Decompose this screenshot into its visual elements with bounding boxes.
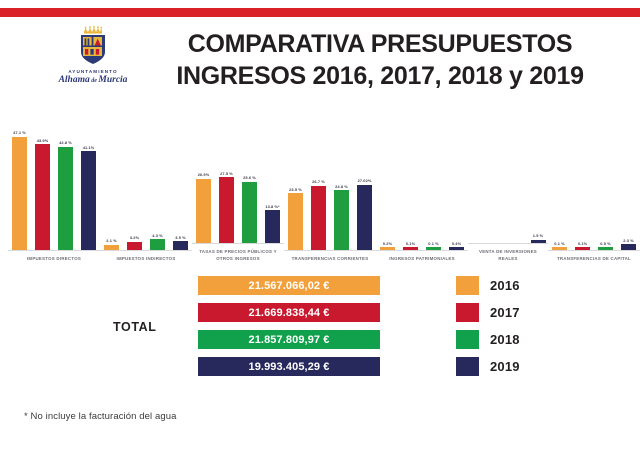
totals-bars: 21.567.066,02 €21.669.838,44 €21.857.809…	[198, 276, 380, 384]
total-label: TOTAL	[113, 320, 157, 334]
chart-bar[interactable]	[173, 241, 188, 249]
legend-row: 2017	[456, 303, 576, 322]
chart-group-bars: 26.9%27.5 %25.6 %13.8 %*	[192, 123, 284, 243]
chart-bar-slot: 41.1%	[77, 130, 100, 250]
legend-year-label: 2017	[490, 305, 520, 320]
chart-axis-line	[548, 250, 640, 251]
bar-value-label: 0.1 %	[554, 241, 564, 246]
top-red-stripe	[0, 8, 640, 17]
chart-group: 0.2%0.1%0.1 %0.4%INGRESOS PATRIMONIALES	[376, 112, 468, 262]
total-amount: 21.857.809,97 €	[248, 334, 329, 346]
chart-bar[interactable]	[127, 242, 142, 250]
total-row: 19.993.405,29 €	[198, 357, 380, 376]
chart-bar-slot: 0.2%	[376, 130, 399, 250]
logo-subtitle-ayuntamiento: AYUNTAMIENTO	[47, 69, 139, 74]
bar-value-label: 0.5 %	[600, 241, 610, 246]
chart-group: 0.1 %0.1%0.5 %2.3 %TRANSFERENCIAS DE CAP…	[548, 112, 640, 262]
bar-value-label: 13.8 %*	[265, 204, 279, 209]
chart-bar[interactable]	[426, 247, 441, 250]
chart-bar[interactable]	[35, 144, 50, 249]
chart-bar[interactable]	[598, 247, 613, 250]
chart-bar[interactable]	[12, 137, 27, 250]
total-row: 21.567.066,02 €	[198, 276, 380, 295]
total-amount: 21.567.066,02 €	[248, 280, 329, 292]
chart-axis-line	[468, 243, 548, 244]
chart-bar-slot: 1.5 %	[528, 123, 548, 243]
chart-bar-slot: 0.4%	[445, 130, 468, 250]
header: AYUNTAMIENTO Alhama de Murcia COMPARATIV…	[0, 22, 640, 102]
chart-bar-slot: 3.5 %	[169, 130, 192, 250]
chart-bar[interactable]	[334, 190, 349, 250]
chart-group-bars: 2.1 %3.2%4.3 %3.5 %	[100, 130, 192, 250]
chart-axis-line	[100, 250, 192, 251]
bar-value-label: 42.8 %	[59, 140, 72, 145]
logo-city-name: Alhama de Murcia	[47, 75, 139, 85]
chart-category-label: TRANSFERENCIAS CORRIENTES	[284, 256, 376, 262]
chart-bar[interactable]	[575, 247, 590, 250]
chart-bar[interactable]	[58, 147, 73, 250]
bar-value-label: 4.3 %	[152, 233, 162, 238]
bar-value-label: 2.1 %	[106, 238, 116, 243]
chart-group-bars: 47.1 %43.9%42.8 %41.1%	[8, 130, 100, 250]
chart-axis-line	[8, 250, 100, 251]
chart-bar-slot: 0.1%	[571, 130, 594, 250]
chart-category-label: TRANSFERENCIAS DE CAPITAL	[548, 256, 640, 262]
bar-chart: 47.1 %43.9%42.8 %41.1%IMPUESTOS DIRECTOS…	[8, 112, 636, 262]
logo-region: Murcia	[98, 75, 127, 85]
chart-bar[interactable]	[403, 247, 418, 250]
bar-value-label: 26.7 %	[312, 179, 325, 184]
chart-bar-slot: 4.3 %	[146, 130, 169, 250]
chart-bar-slot	[508, 123, 528, 243]
coat-of-arms-icon	[76, 26, 110, 66]
chart-category-label: INGRESOS PATRIMONIALES	[376, 256, 468, 262]
bar-value-label: 0.1%	[406, 241, 415, 246]
chart-bar[interactable]	[104, 245, 119, 250]
totals-section: TOTAL 21.567.066,02 €21.669.838,44 €21.8…	[0, 276, 640, 384]
title-line-2: INGRESOS 2016, 2017, 2018 y 2019	[145, 60, 615, 92]
chart-category-label: IMPUESTOS INDIRECTOS	[100, 256, 192, 262]
chart-bar-slot: 3.2%	[123, 130, 146, 250]
chart-group-container: 47.1 %43.9%42.8 %41.1%IMPUESTOS DIRECTOS…	[8, 112, 636, 262]
chart-bar-slot: 2.1 %	[100, 130, 123, 250]
chart-legend: 2016201720182019	[456, 276, 576, 384]
chart-bar-slot: 27.02%	[353, 130, 376, 250]
logo-city: Alhama	[59, 75, 90, 85]
legend-color-swatch	[456, 303, 479, 322]
footnote: * No incluye la facturación del agua	[24, 411, 177, 422]
chart-bar-slot: 42.8 %	[54, 130, 77, 250]
page-title: COMPARATIVA PRESUPUESTOS INGRESOS 2016, …	[145, 28, 615, 92]
legend-year-label: 2016	[490, 278, 520, 293]
chart-bar-slot: 26.9%	[192, 123, 215, 243]
chart-bar[interactable]	[311, 186, 326, 250]
total-row: 21.857.809,97 €	[198, 330, 380, 349]
chart-bar-slot: 23.5 %	[284, 130, 307, 250]
chart-bar-slot: 26.7 %	[307, 130, 330, 250]
chart-category-label: VENTA DE INVERSIONES REALES	[468, 249, 548, 262]
chart-bar[interactable]	[357, 185, 372, 250]
bar-value-label: 3.2%	[130, 235, 139, 240]
bar-value-label: 43.9%	[37, 138, 49, 143]
municipal-logo: AYUNTAMIENTO Alhama de Murcia	[47, 26, 139, 85]
chart-bar[interactable]	[380, 247, 395, 250]
chart-bar-slot: 27.5 %	[215, 123, 238, 243]
chart-axis-line	[376, 250, 468, 251]
bar-value-label: 1.5 %	[533, 233, 543, 238]
chart-bar[interactable]	[196, 179, 211, 244]
chart-bar[interactable]	[81, 151, 96, 250]
bar-value-label: 0.1%	[578, 241, 587, 246]
chart-bar[interactable]	[552, 247, 567, 250]
chart-bar-slot: 43.9%	[31, 130, 54, 250]
chart-bar-slot: 0.5 %	[594, 130, 617, 250]
bar-value-label: 26.9%	[198, 172, 210, 177]
chart-bar-slot: 0.1 %	[422, 130, 445, 250]
chart-axis-line	[284, 250, 376, 251]
bar-value-label: 27.5 %	[220, 171, 233, 176]
chart-bar-slot: 0.1 %	[548, 130, 571, 250]
total-amount: 19.993.405,29 €	[248, 361, 329, 373]
total-amount: 21.669.838,44 €	[248, 307, 329, 319]
chart-bar[interactable]	[621, 244, 636, 250]
bar-value-label: 41.1%	[83, 145, 95, 150]
chart-group: 2.1 %3.2%4.3 %3.5 %IMPUESTOS INDIRECTOS	[100, 112, 192, 262]
chart-group: 23.5 %26.7 %24.8 %27.02%TRANSFERENCIAS C…	[284, 112, 376, 262]
chart-group-bars: 0.1 %0.1%0.5 %2.3 %	[548, 130, 640, 250]
chart-bar-slot	[468, 123, 488, 243]
chart-category-label: TASAS DE PRECIOS PÚBLICOS Y OTROS INGRES…	[192, 249, 284, 262]
chart-bar-slot	[488, 123, 508, 243]
chart-group: 26.9%27.5 %25.6 %13.8 %*TASAS DE PRECIOS…	[192, 112, 284, 262]
bar-value-label: 0.4%	[452, 241, 461, 246]
bar-value-label: 2.3 %	[623, 238, 633, 243]
chart-bar[interactable]	[265, 210, 280, 243]
infographic-page: AYUNTAMIENTO Alhama de Murcia COMPARATIV…	[0, 0, 640, 452]
legend-year-label: 2018	[490, 332, 520, 347]
chart-bar-slot: 47.1 %	[8, 130, 31, 250]
bar-value-label: 27.02%	[358, 178, 372, 183]
bar-value-label: 23.5 %	[289, 187, 302, 192]
chart-bar[interactable]	[242, 182, 257, 243]
legend-year-label: 2019	[490, 359, 520, 374]
legend-color-swatch	[456, 330, 479, 349]
bar-value-label: 3.5 %	[175, 235, 185, 240]
chart-bar-slot: 0.1%	[399, 130, 422, 250]
chart-category-label: IMPUESTOS DIRECTOS	[8, 256, 100, 262]
legend-row: 2016	[456, 276, 576, 295]
chart-bar-slot: 24.8 %	[330, 130, 353, 250]
chart-bar-slot: 13.8 %*	[261, 123, 284, 243]
bar-value-label: 24.8 %	[335, 184, 348, 189]
chart-group: 1.5 %VENTA DE INVERSIONES REALES	[468, 112, 548, 262]
chart-bar-slot: 25.6 %	[238, 123, 261, 243]
chart-bar[interactable]	[449, 247, 464, 250]
legend-color-swatch	[456, 276, 479, 295]
total-row: 21.669.838,44 €	[198, 303, 380, 322]
chart-bar[interactable]	[288, 193, 303, 249]
chart-bar[interactable]	[531, 240, 546, 244]
bar-value-label: 47.1 %	[13, 130, 26, 135]
chart-bar[interactable]	[219, 177, 234, 243]
legend-row: 2019	[456, 357, 576, 376]
chart-axis-line	[192, 243, 284, 244]
chart-bar-slot: 2.3 %	[617, 130, 640, 250]
bar-value-label: 25.6 %	[243, 175, 256, 180]
chart-group: 47.1 %43.9%42.8 %41.1%IMPUESTOS DIRECTOS	[8, 112, 100, 262]
chart-bar[interactable]	[150, 239, 165, 249]
legend-color-swatch	[456, 357, 479, 376]
legend-row: 2018	[456, 330, 576, 349]
bar-value-label: 0.2%	[383, 241, 392, 246]
title-line-1: COMPARATIVA PRESUPUESTOS	[145, 28, 615, 60]
chart-group-bars: 1.5 %	[468, 123, 548, 243]
chart-group-bars: 23.5 %26.7 %24.8 %27.02%	[284, 130, 376, 250]
chart-group-bars: 0.2%0.1%0.1 %0.4%	[376, 130, 468, 250]
bar-value-label: 0.1 %	[428, 241, 438, 246]
